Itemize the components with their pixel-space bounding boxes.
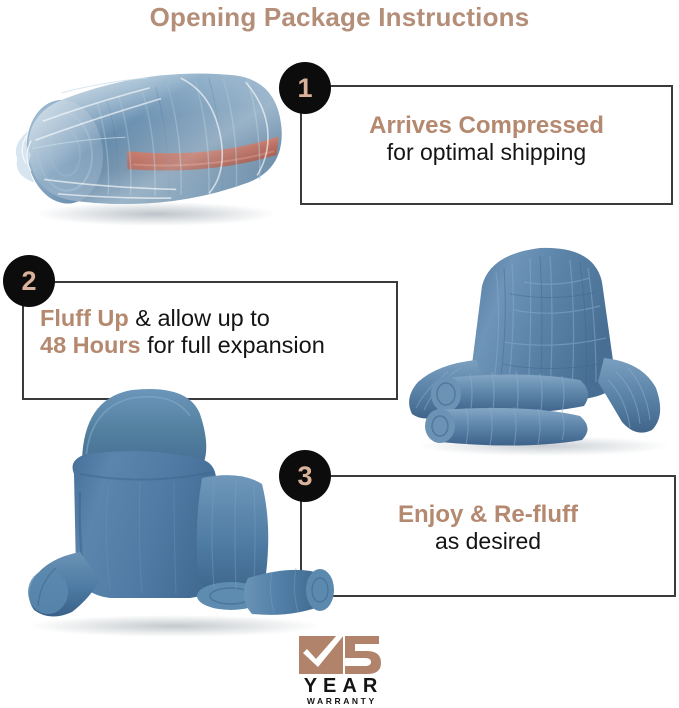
step-2-text: Fluff Up & allow up to 48 Hours for full… — [22, 305, 398, 358]
step-2-accent-2: 48 Hours — [40, 332, 141, 358]
step-3-badge: 3 — [279, 450, 331, 502]
infographic-canvas: Opening Package Instructions — [0, 0, 679, 708]
partially-expanded-pillow-image — [404, 232, 676, 460]
step-2-badge: 2 — [3, 255, 55, 307]
checkmark-5-icon — [297, 634, 385, 676]
warranty-year-label: YEAR — [288, 675, 393, 698]
step-1-badge: 1 — [279, 62, 331, 114]
step-1-accent-line: Arrives Compressed — [300, 112, 673, 139]
step-3-plain-line: as desired — [300, 528, 676, 554]
step-2-plain-2: for full expansion — [141, 332, 325, 358]
step-2-accent-1: Fluff Up — [40, 305, 129, 331]
step-1-text: Arrives Compressed for optimal shipping — [300, 112, 673, 165]
warranty-badge: YEAR WARRANTY — [288, 634, 393, 704]
fully-fluffed-pillow-image — [24, 382, 340, 640]
step-3-text: Enjoy & Re-fluff as desired — [300, 501, 676, 554]
page-title: Opening Package Instructions — [0, 2, 679, 33]
step-1-plain-line: for optimal shipping — [300, 139, 673, 165]
step-2-plain-1: & allow up to — [129, 305, 270, 331]
step-3-accent-line: Enjoy & Re-fluff — [300, 501, 676, 528]
warranty-label: WARRANTY — [288, 696, 393, 706]
compressed-package-image — [6, 42, 298, 228]
